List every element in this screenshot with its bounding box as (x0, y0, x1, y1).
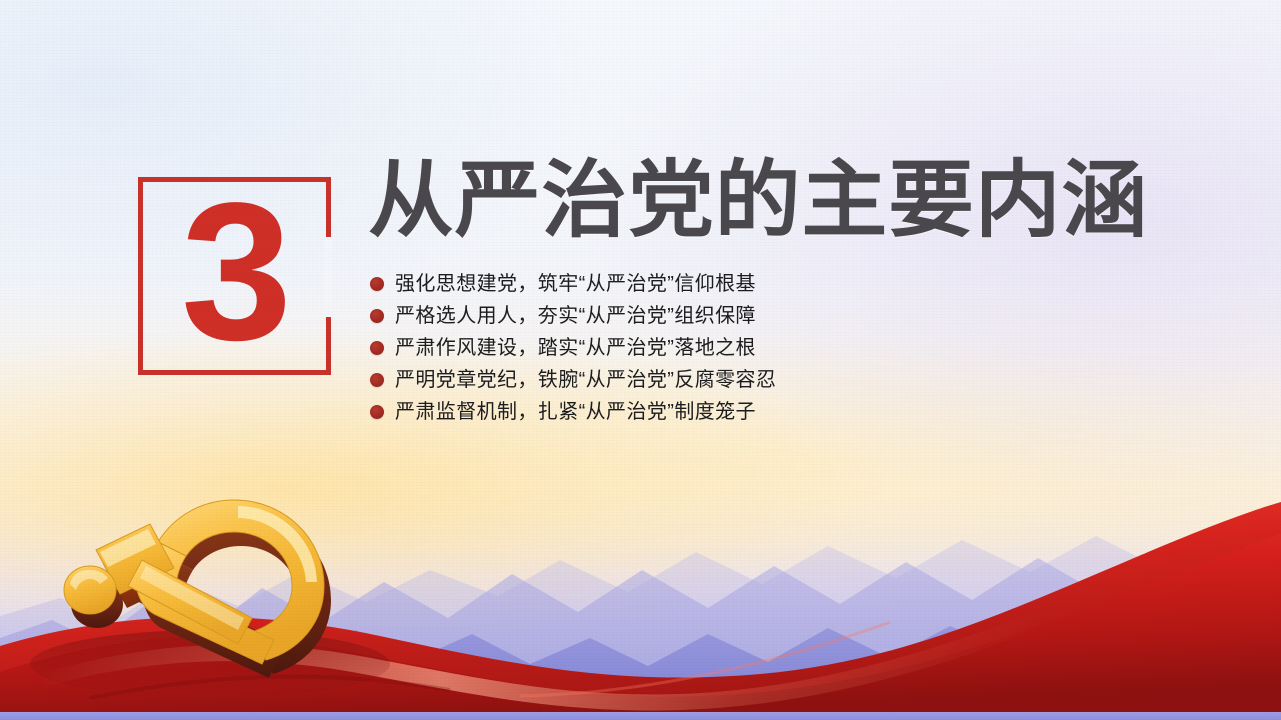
paper-texture-overlay (0, 0, 1281, 720)
slide-canvas: 3 从严治党的主要内涵 强化思想建党，筑牢“从严治党”信仰根基 严格选人用人，夯… (0, 0, 1281, 720)
